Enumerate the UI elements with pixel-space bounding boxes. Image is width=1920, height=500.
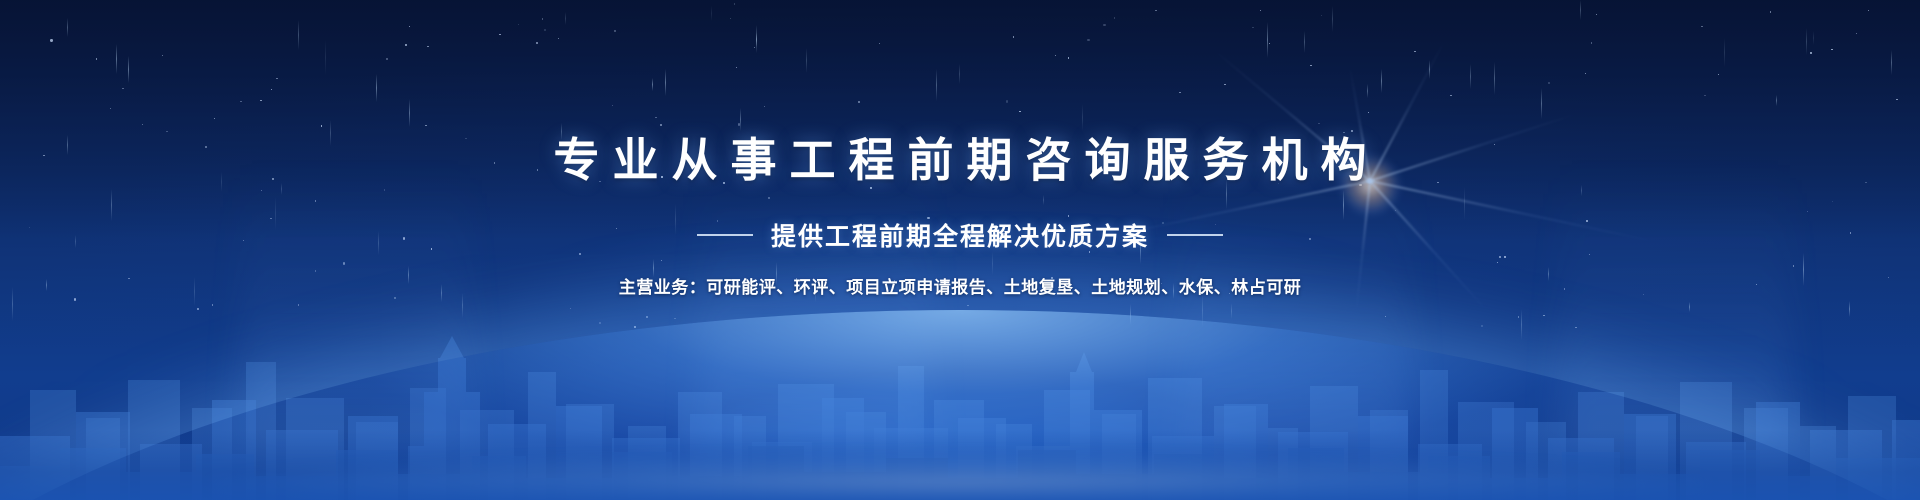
banner-content: 专业从事工程前期咨询服务机构 提供工程前期全程解决优质方案 主营业务：可研能评、… bbox=[0, 104, 1920, 298]
business-scope-text: 主营业务：可研能评、环评、项目立项申请报告、土地复垦、土地规划、水保、林占可研 bbox=[0, 273, 1920, 298]
decor-rule-left-icon bbox=[697, 234, 753, 236]
page-title: 专业从事工程前期咨询服务机构 bbox=[0, 135, 1920, 187]
subtitle-row: 提供工程前期全程解决优质方案 bbox=[0, 217, 1920, 253]
decor-rule-right-icon bbox=[1167, 234, 1223, 236]
subtitle: 提供工程前期全程解决优质方案 bbox=[771, 217, 1149, 253]
bottom-fade bbox=[0, 430, 1920, 500]
hero-banner: 专业从事工程前期咨询服务机构 提供工程前期全程解决优质方案 主营业务：可研能评、… bbox=[0, 0, 1920, 500]
